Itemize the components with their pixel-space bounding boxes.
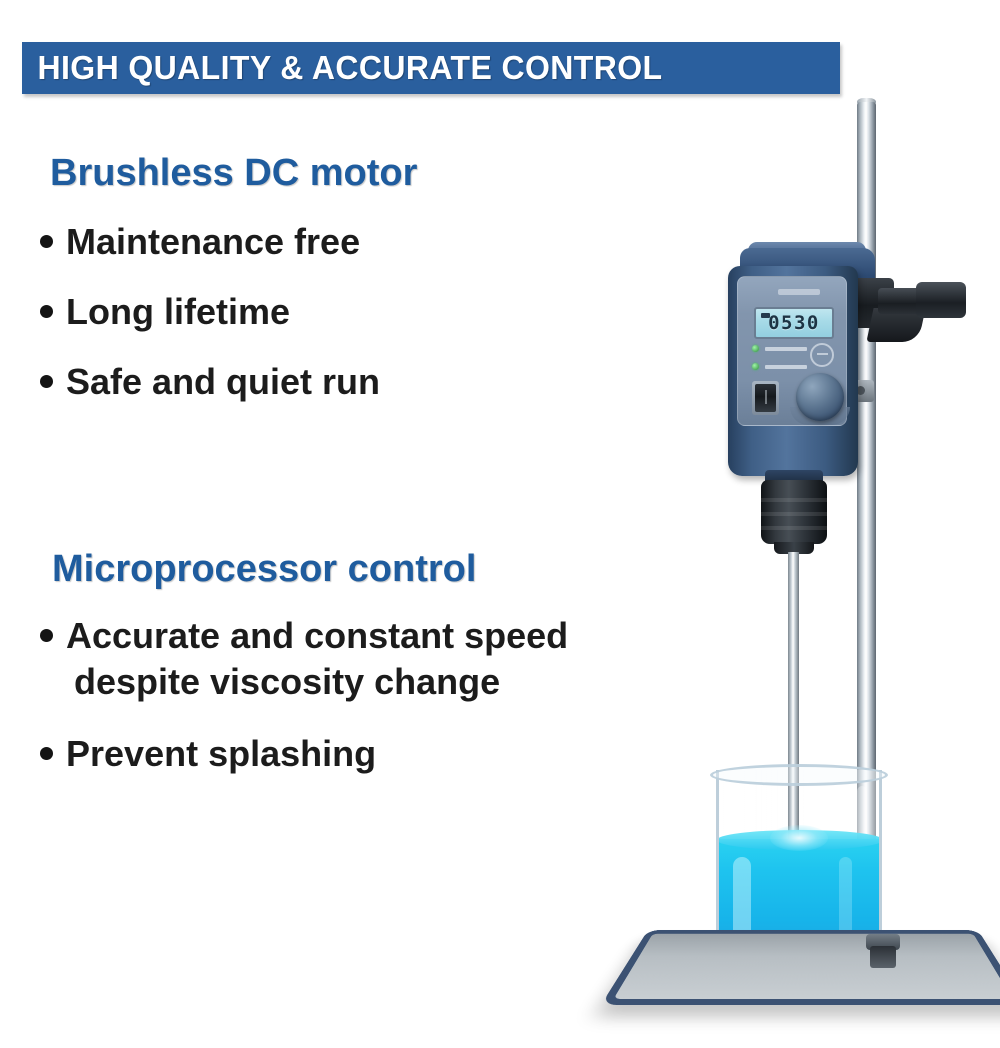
vortex	[770, 825, 828, 851]
lcd-indicator-icon	[761, 313, 770, 318]
brand-logo	[778, 289, 820, 295]
beaker-rim	[710, 764, 888, 786]
section-brushless-dc-motor: Brushless DC motor Maintenance free Long…	[0, 152, 720, 429]
section-heading-motor: Brushless DC motor	[0, 152, 720, 195]
section-microprocessor-control: Microprocessor control Accurate and cons…	[0, 548, 720, 803]
certification-mark-icon	[810, 343, 834, 367]
chuck-ring	[761, 526, 827, 530]
indicator-label-2	[765, 365, 807, 369]
bullet-dot-icon	[40, 629, 53, 642]
bullet-text-line2: despite viscosity change	[66, 659, 568, 705]
bullet-text: Maintenance free	[66, 219, 360, 265]
bullet-list-microprocessor: Accurate and constant speed despite visc…	[0, 613, 720, 777]
base-plate	[648, 930, 978, 1048]
speed-knob[interactable]	[796, 373, 844, 421]
bullet-list-motor: Maintenance free Long lifetime Safe and …	[0, 219, 720, 405]
rod-mount-foot	[870, 946, 896, 968]
status-led-icon	[752, 363, 759, 370]
list-item: Long lifetime	[40, 289, 720, 335]
bullet-text: Accurate and constant speed despite visc…	[66, 613, 568, 705]
chuck-ring	[761, 498, 827, 502]
bullet-dot-icon	[40, 375, 53, 388]
product-image-overhead-stirrer: 0530	[620, 80, 1000, 985]
lcd-speed-value: 0530	[768, 312, 820, 334]
bullet-dot-icon	[40, 235, 53, 248]
bullet-dot-icon	[40, 747, 53, 760]
control-panel: 0530	[737, 276, 847, 426]
indicator-label-1	[765, 347, 807, 351]
bullet-text: Long lifetime	[66, 289, 290, 335]
bullet-dot-icon	[40, 305, 53, 318]
infographic-page: HIGH QUALITY & ACCURATE CONTROL Brushles…	[0, 0, 1000, 1000]
bullet-text: Safe and quiet run	[66, 359, 380, 405]
power-switch-face	[755, 384, 776, 412]
indicator-row-2	[752, 363, 807, 370]
indicator-row-1	[752, 345, 807, 352]
status-led-icon	[752, 345, 759, 352]
power-rocker-switch[interactable]	[752, 381, 779, 415]
bullet-text: Prevent splashing	[66, 731, 376, 777]
list-item: Maintenance free	[40, 219, 720, 265]
list-item: Accurate and constant speed despite visc…	[40, 613, 720, 705]
lcd-display: 0530	[754, 307, 834, 339]
list-item: Safe and quiet run	[40, 359, 720, 405]
list-item: Prevent splashing	[40, 731, 720, 777]
bullet-text-line1: Accurate and constant speed	[66, 615, 568, 656]
base-plate-surface	[601, 930, 1000, 1005]
section-heading-microprocessor: Microprocessor control	[0, 548, 720, 591]
chuck-ring	[761, 512, 827, 516]
clamp-knob[interactable]	[916, 282, 966, 318]
banner-title: HIGH QUALITY & ACCURATE CONTROL	[22, 49, 662, 87]
